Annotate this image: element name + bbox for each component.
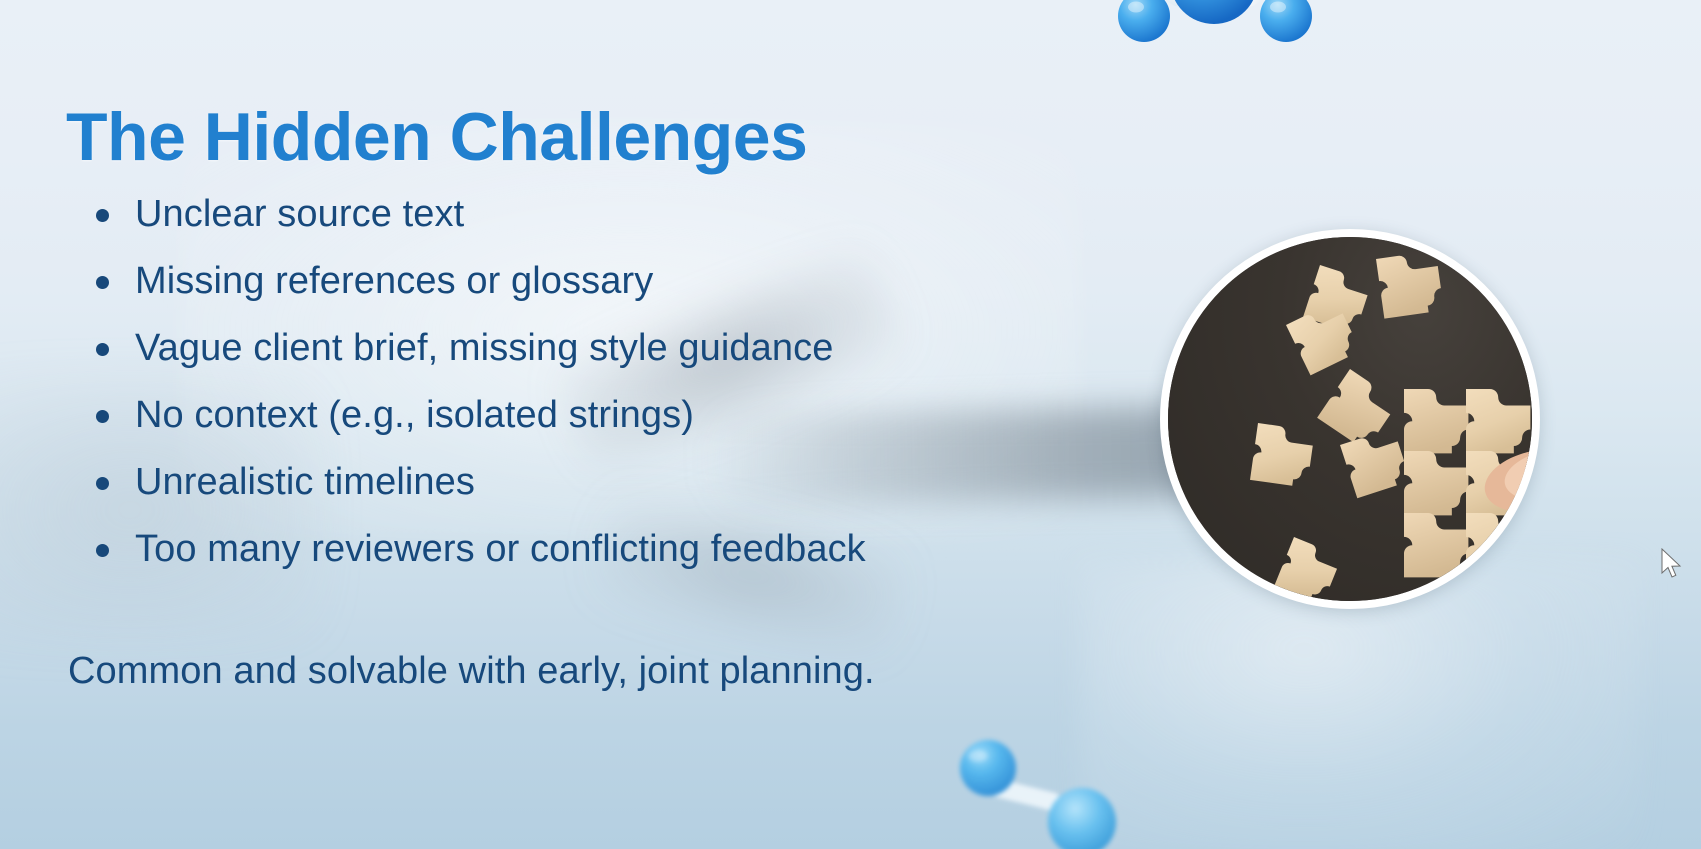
puzzle-pieces-scatter <box>1168 237 1540 609</box>
list-item: Unrealistic timelines <box>96 460 866 527</box>
list-item: Unclear source text <box>96 192 866 259</box>
slide-title: The Hidden Challenges <box>66 98 807 176</box>
list-item: Vague client brief, missing style guidan… <box>96 326 866 393</box>
molecule-icon <box>1100 0 1330 62</box>
molecule-icon-bottom <box>930 724 1130 849</box>
puzzle-photo <box>1160 229 1540 609</box>
bullet-label: Unrealistic timelines <box>135 460 475 504</box>
bullet-dot-icon <box>96 544 109 557</box>
bullet-label: Missing references or glossary <box>135 259 653 303</box>
bullet-label: Too many reviewers or conflicting feedba… <box>135 527 866 571</box>
bullet-dot-icon <box>96 209 109 222</box>
closing-statement: Common and solvable with early, joint pl… <box>68 650 875 693</box>
presentation-slide: The Hidden Challenges Unclear source tex… <box>0 0 1701 849</box>
bullet-label: Unclear source text <box>135 192 464 236</box>
challenges-bullet-list: Unclear source text Missing references o… <box>96 192 866 594</box>
mouse-cursor-icon <box>1661 548 1683 580</box>
puzzle-photo-surface <box>1168 237 1532 601</box>
list-item: Missing references or glossary <box>96 259 866 326</box>
bullet-dot-icon <box>96 477 109 490</box>
bullet-dot-icon <box>96 343 109 356</box>
list-item: Too many reviewers or conflicting feedba… <box>96 527 866 594</box>
bullet-dot-icon <box>96 410 109 423</box>
bullet-dot-icon <box>96 276 109 289</box>
bullet-label: No context (e.g., isolated strings) <box>135 393 694 437</box>
bullet-label: Vague client brief, missing style guidan… <box>135 326 833 370</box>
list-item: No context (e.g., isolated strings) <box>96 393 866 460</box>
